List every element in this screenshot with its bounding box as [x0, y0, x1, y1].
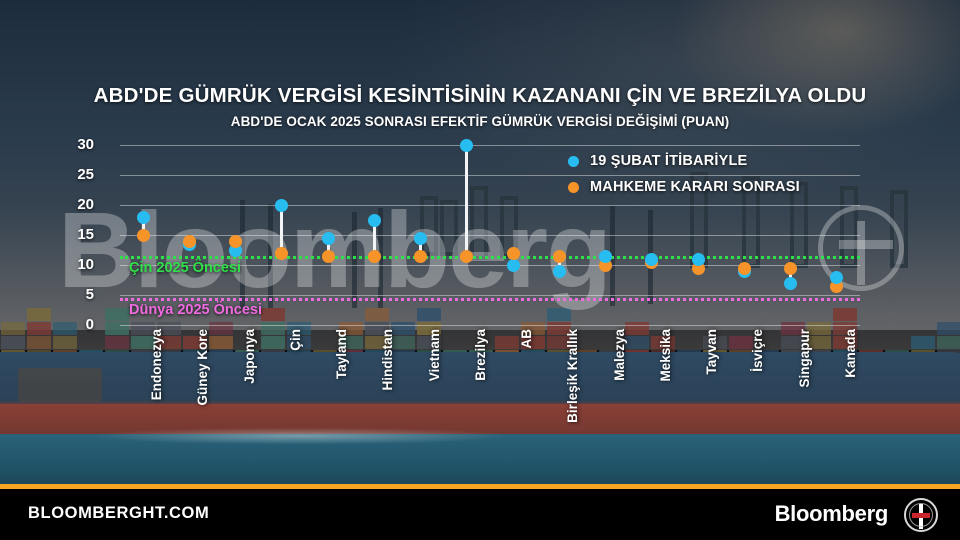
data-point-orange[interactable]: [137, 229, 150, 242]
x-axis-label-brezilya: Brezilya: [473, 329, 488, 381]
x-axis-label-i-svi-re: İsviçre: [750, 329, 765, 372]
data-point-blue[interactable]: [830, 271, 843, 284]
connector-stem: [465, 145, 468, 256]
legend-item[interactable]: 19 ŞUBAT İTİBARİYLE: [568, 148, 800, 174]
reference-line-world: [120, 298, 860, 301]
footer-bar: BLOOMBERGHT.COM Bloomberg: [0, 484, 960, 540]
gridline: [120, 325, 860, 326]
x-axis-label-hindistan: Hindistan: [380, 329, 395, 391]
data-point-blue[interactable]: [460, 139, 473, 152]
data-point-orange[interactable]: [738, 262, 751, 275]
data-point-orange[interactable]: [368, 250, 381, 263]
chart-subtitle: ABD'DE OCAK 2025 SONRASI EFEKTİF GÜMRÜK …: [0, 114, 960, 129]
data-point-orange[interactable]: [507, 247, 520, 260]
legend-item-label: MAHKEME KARARI SONRASI: [590, 179, 800, 195]
x-axis-label-tayland: Tayland: [334, 329, 349, 379]
reference-line-label: Dünya 2025 Öncesi: [129, 302, 262, 318]
y-axis-tick-label: 20: [34, 196, 94, 213]
bloomberght-ht-logo-icon: [904, 498, 938, 532]
bloomberg-wordmark: Bloomberg: [775, 501, 888, 527]
reference-line-china: [120, 256, 860, 259]
y-axis-tick-label: 15: [34, 226, 94, 243]
x-axis-label-tayvan: Tayvan: [704, 329, 719, 375]
x-axis-label-vietnam: Vietnam: [427, 329, 442, 381]
y-axis-tick-label: 0: [34, 316, 94, 333]
y-axis-tick-label: 5: [34, 286, 94, 303]
data-point-blue[interactable]: [507, 259, 520, 272]
data-point-orange[interactable]: [784, 262, 797, 275]
legend-item[interactable]: MAHKEME KARARI SONRASI: [568, 174, 800, 200]
data-point-blue[interactable]: [645, 253, 658, 266]
x-axis-label-endonezya: Endonezya: [149, 329, 164, 400]
data-point-orange[interactable]: [460, 250, 473, 263]
connector-stem: [280, 205, 283, 253]
orange-dot-icon: [568, 182, 579, 193]
chart-legend: 19 ŞUBAT İTİBARİYLEMAHKEME KARARI SONRAS…: [568, 148, 800, 200]
x-axis-label-kanada: Kanada: [843, 329, 858, 378]
x-axis-label-malezya: Malezya: [612, 329, 627, 381]
chart-container: ABD'DE GÜMRÜK VERGİSİ KESİNTİSİNİN KAZAN…: [0, 0, 960, 484]
data-point-orange[interactable]: [322, 250, 335, 263]
data-point-blue[interactable]: [692, 253, 705, 266]
data-point-orange[interactable]: [229, 235, 242, 248]
x-axis-label-g-ney-kore: Güney Kore: [195, 329, 210, 406]
infographic-chart-card: Bloomberg ABD'DE GÜMRÜK VERGİSİ KESİNTİS…: [0, 0, 960, 540]
data-point-orange[interactable]: [414, 250, 427, 263]
data-point-blue[interactable]: [414, 232, 427, 245]
gridline: [120, 295, 860, 296]
footer-accent-stripe: [0, 484, 960, 489]
data-point-blue[interactable]: [599, 250, 612, 263]
gridline: [120, 205, 860, 206]
page-title: ABD'DE GÜMRÜK VERGİSİ KESİNTİSİNİN KAZAN…: [0, 84, 960, 108]
x-axis-label-japonya: Japonya: [242, 329, 257, 384]
data-point-blue[interactable]: [368, 214, 381, 227]
x-axis-label-singapur: Singapur: [797, 329, 812, 388]
data-point-blue[interactable]: [784, 277, 797, 290]
data-point-orange[interactable]: [183, 235, 196, 248]
y-axis-tick-label: 25: [34, 166, 94, 183]
data-point-orange[interactable]: [275, 247, 288, 260]
data-point-blue[interactable]: [137, 211, 150, 224]
x-axis-label-meksika: Meksika: [658, 329, 673, 382]
x-axis-label-ab: AB: [519, 329, 534, 349]
data-point-blue[interactable]: [322, 232, 335, 245]
y-axis-tick-label: 30: [34, 136, 94, 153]
blue-dot-icon: [568, 156, 579, 167]
x-axis-label--in: Çin: [288, 329, 303, 351]
data-point-blue[interactable]: [275, 199, 288, 212]
data-point-blue[interactable]: [553, 265, 566, 278]
legend-item-label: 19 ŞUBAT İTİBARİYLE: [590, 153, 747, 169]
ht-logo-inner-ring: [909, 503, 933, 527]
site-url-label: BLOOMBERGHT.COM: [28, 504, 209, 523]
x-axis-label-birle-ik-krall-k: Birleşik Krallık: [565, 329, 580, 423]
data-point-orange[interactable]: [553, 250, 566, 263]
reference-line-label: Çin 2025 Öncesi: [129, 260, 241, 276]
y-axis-tick-label: 10: [34, 256, 94, 273]
gridline: [120, 145, 860, 146]
